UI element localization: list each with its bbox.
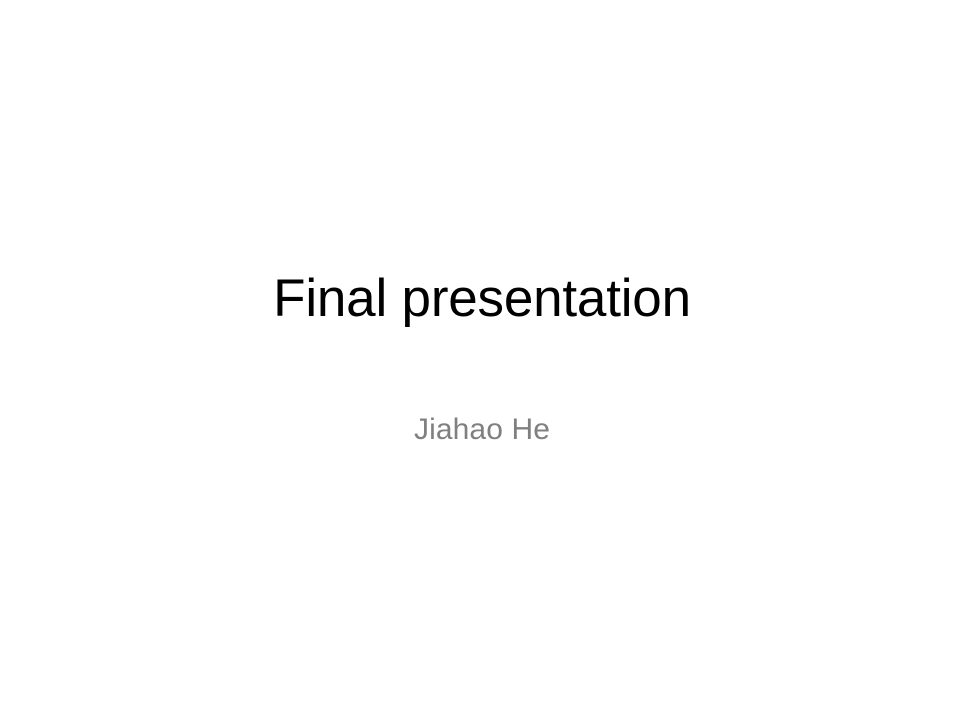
slide-canvas: Final presentation Jiahao He [0,0,960,720]
title-placeholder[interactable]: Final presentation [120,190,844,325]
slide-subtitle: Jiahao He [168,412,796,449]
subtitle-placeholder[interactable]: Jiahao He [168,412,796,472]
slide-title: Final presentation [120,272,844,325]
